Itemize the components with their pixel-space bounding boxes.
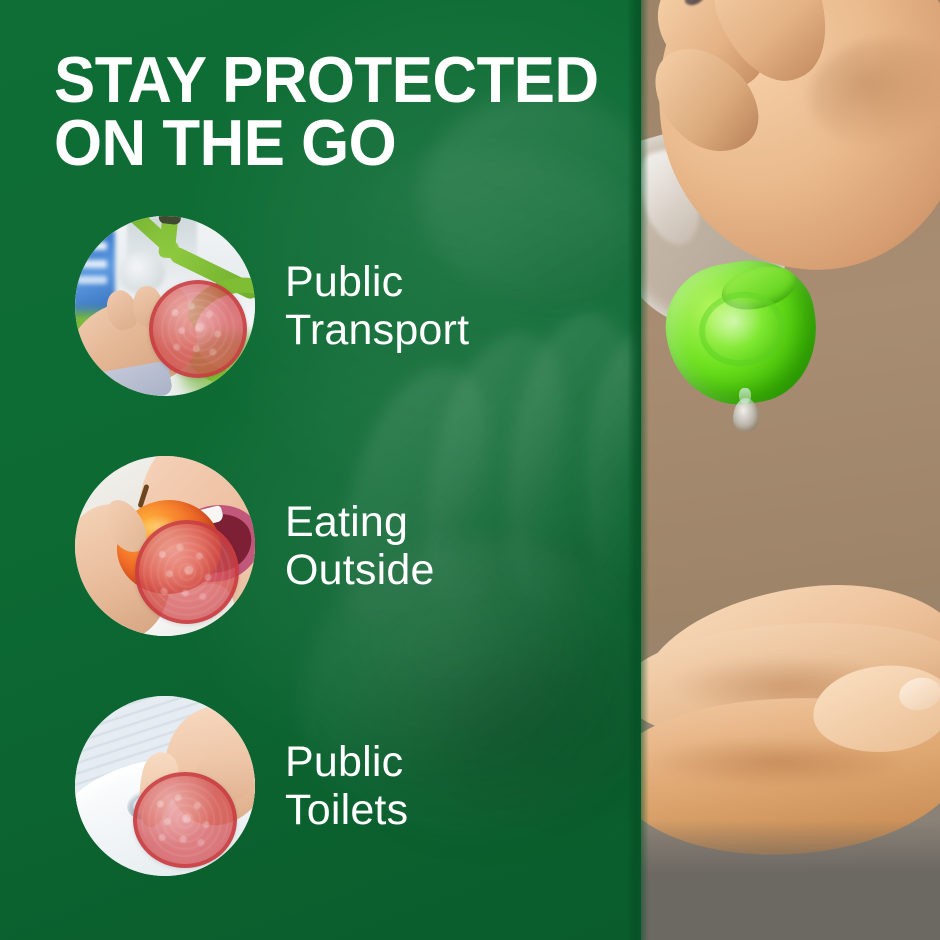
headline-line-2: ON THE GO (54, 111, 586, 174)
feature-image-eating-outside (75, 456, 255, 636)
feature-item-public-transport: Public Transport (0, 215, 641, 397)
gel-droplet (733, 398, 759, 432)
feature-label-public-toilets: Public Toilets (285, 738, 408, 834)
feature-label-public-transport: Public Transport (285, 258, 469, 354)
panel-edge-stripe (627, 0, 641, 940)
page-title: STAY PROTECTED ON THE GO (54, 48, 586, 174)
product-photo-panel (641, 0, 940, 940)
feature-label-eating-outside: Eating Outside (285, 498, 435, 594)
feature-label-line-1: Public (285, 258, 469, 306)
feature-label-line-1: Public (285, 738, 408, 786)
feature-image-public-toilets (75, 696, 255, 876)
germ-magnifier-icon (133, 772, 237, 868)
feature-item-public-toilets: Public Toilets (0, 695, 641, 877)
feature-label-line-2: Transport (285, 306, 469, 354)
feature-label-line-2: Toilets (285, 786, 408, 834)
scene-public-transport (75, 216, 255, 396)
feature-label-line-1: Eating (285, 498, 435, 546)
green-content-panel: STAY PROTECTED ON THE GO (0, 0, 641, 940)
ground-shadow (641, 820, 940, 940)
photo-left-edge-shade (641, 0, 649, 940)
germ-magnifier-icon (149, 280, 247, 378)
scene-public-toilets (75, 696, 255, 876)
feature-item-eating-outside: Eating Outside (0, 455, 641, 637)
feature-label-line-2: Outside (285, 546, 435, 594)
feature-image-public-transport (75, 216, 255, 396)
poster-canvas: STAY PROTECTED ON THE GO (0, 0, 940, 940)
scene-eating-outside (75, 456, 255, 636)
germ-magnifier-icon (135, 520, 239, 624)
headline-line-1: STAY PROTECTED (54, 48, 586, 111)
